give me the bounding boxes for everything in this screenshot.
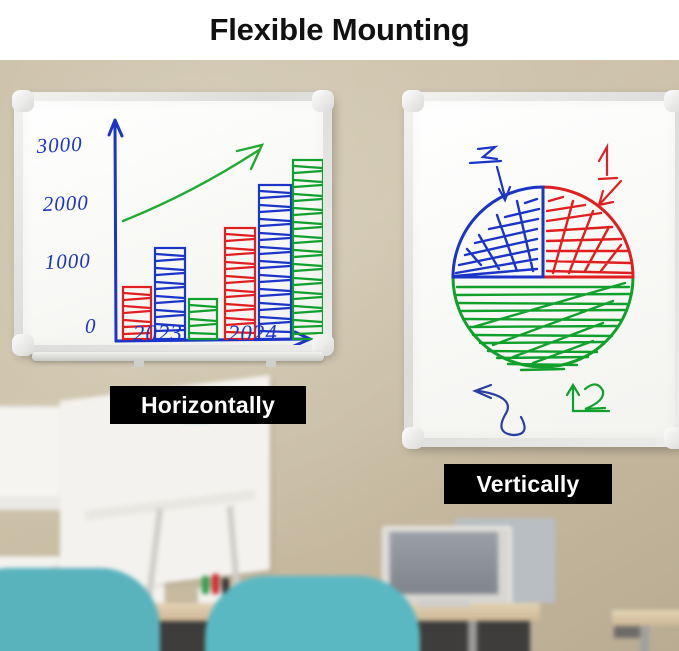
caption-horizontally: Horizontally — [110, 386, 306, 424]
product-image: Flexible Mounting — [0, 0, 679, 651]
whiteboard-frame: 3000 2000 1000 0 — [14, 92, 332, 354]
frame-corner-top-left — [12, 90, 34, 112]
page-title: Flexible Mounting — [209, 12, 469, 48]
svg-text:2023: 2023 — [133, 320, 183, 345]
marker-red — [212, 574, 219, 594]
caption-vertically: Vertically — [444, 464, 612, 504]
header-bar: Flexible Mounting — [0, 0, 679, 60]
frame-corner-bottom-left — [402, 427, 424, 449]
whiteboard-surface: 3000 2000 1000 0 — [23, 101, 323, 345]
monitor-stand — [418, 600, 470, 607]
svg-text:1000: 1000 — [44, 248, 91, 274]
svg-text:2024: 2024 — [228, 320, 278, 345]
marker-green — [202, 576, 209, 594]
desk-right-leg — [640, 626, 649, 651]
caption-vertically-label: Vertically — [476, 471, 579, 498]
frame-corner-bottom-left — [12, 334, 34, 356]
svg-text:2000: 2000 — [42, 190, 89, 216]
frame-corner-bottom-right — [664, 427, 679, 449]
monitor-screen — [390, 532, 498, 594]
desk-leg — [468, 621, 477, 651]
frame-corner-top-left — [402, 90, 424, 112]
vertical-whiteboard[interactable]: 1 2 3 — [404, 92, 679, 447]
chair-left — [0, 568, 160, 651]
horizontal-whiteboard[interactable]: 3000 2000 1000 0 — [14, 92, 332, 354]
whiteboard-surface: 1 2 3 — [413, 101, 675, 438]
marker-tray-clip-right — [266, 360, 276, 367]
svg-text:0: 0 — [85, 314, 97, 338]
svg-text:3000: 3000 — [35, 132, 83, 158]
caption-horizontally-label: Horizontally — [141, 392, 275, 419]
marker-tray-clip-left — [134, 360, 144, 367]
chair-center — [205, 576, 420, 651]
whiteboard-frame: 1 2 3 — [404, 92, 679, 447]
desk-right-surface — [612, 610, 679, 626]
frame-corner-top-right — [664, 90, 679, 112]
office-photo: 3000 2000 1000 0 — [0, 58, 679, 651]
marker-tray — [32, 352, 324, 361]
bar-chart-drawing: 3000 2000 1000 0 — [23, 101, 323, 345]
frame-corner-top-right — [312, 90, 334, 112]
pie-chart-drawing — [413, 101, 675, 438]
